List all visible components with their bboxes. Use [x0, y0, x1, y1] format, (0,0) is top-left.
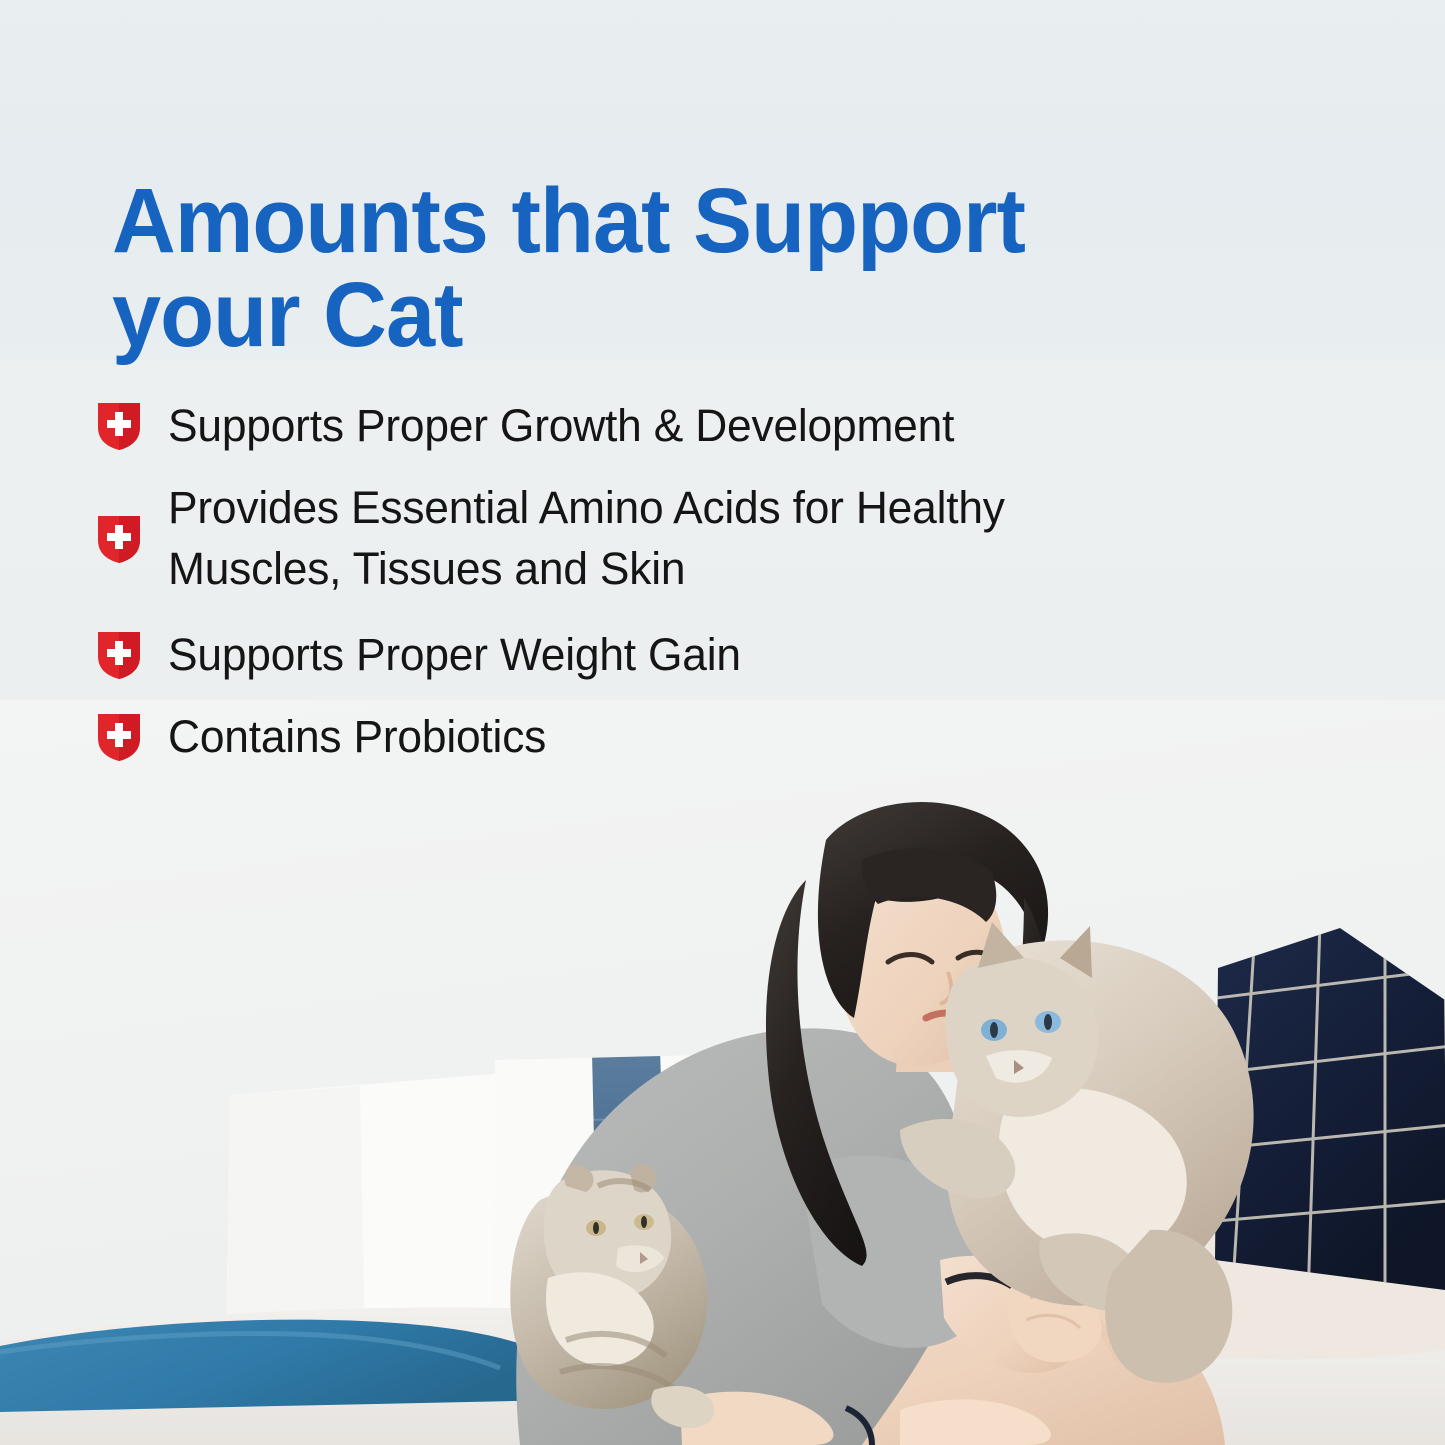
- list-item: Contains Probiotics: [96, 707, 1296, 767]
- cat-head: [945, 957, 1098, 1117]
- list-item: Provides Essential Amino Acids for Healt…: [96, 478, 1296, 599]
- photo-artwork: [0, 700, 1445, 1445]
- list-item: Supports Proper Weight Gain: [96, 625, 1296, 685]
- lifestyle-photo: [0, 700, 1445, 1445]
- red-shield-plus-icon: [96, 712, 142, 762]
- list-item: Supports Proper Growth & Development: [96, 396, 1296, 456]
- product-feature-graphic: Amounts that Support your Cat Supports P…: [0, 0, 1445, 1445]
- red-shield-plus-icon: [96, 630, 142, 680]
- benefits-list: Supports Proper Growth & Development Pro…: [96, 396, 1296, 789]
- list-item-label: Provides Essential Amino Acids for Healt…: [168, 478, 1005, 599]
- red-shield-plus-icon: [96, 514, 142, 564]
- red-shield-plus-icon: [96, 401, 142, 451]
- list-item-label: Contains Probiotics: [168, 707, 546, 767]
- page-title: Amounts that Support your Cat: [112, 174, 1245, 364]
- list-item-label: Supports Proper Growth & Development: [168, 396, 954, 456]
- list-item-label: Supports Proper Weight Gain: [168, 625, 741, 685]
